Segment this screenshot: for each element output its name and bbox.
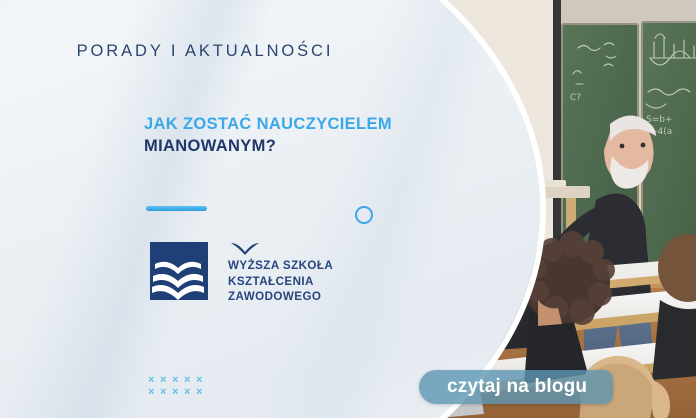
logo-line-3: ZAWODOWEGO bbox=[228, 289, 333, 305]
x-mark: × bbox=[160, 374, 172, 386]
x-mark: × bbox=[148, 386, 160, 398]
x-mark: × bbox=[160, 386, 172, 398]
x-mark: × bbox=[172, 386, 184, 398]
x-mark: × bbox=[196, 374, 208, 386]
circle-outline-decoration bbox=[355, 206, 373, 224]
x-mark: × bbox=[196, 386, 208, 398]
open-book-logo-icon bbox=[150, 242, 216, 304]
logo-line-1: WYŻSZA SZKOŁA bbox=[228, 258, 333, 274]
banner-content: PORADY I AKTUALNOŚCI JAK ZOSTAĆ NAUCZYCI… bbox=[0, 0, 430, 418]
read-on-blog-cta-button[interactable]: czytaj na blogu bbox=[419, 370, 613, 404]
x-mark: × bbox=[184, 386, 196, 398]
headline-line-1: JAK ZOSTAĆ NAUCZYCIELEM bbox=[144, 113, 392, 135]
headline-line-2: MIANOWANYM? bbox=[144, 135, 392, 157]
logo-text-block: WYŻSZA SZKOŁA KSZTAŁCENIA ZAWODOWEGO bbox=[228, 242, 333, 305]
university-logo[interactable]: WYŻSZA SZKOŁA KSZTAŁCENIA ZAWODOWEGO bbox=[150, 242, 333, 305]
x-mark: × bbox=[172, 374, 184, 386]
logo-line-2: KSZTAŁCENIA bbox=[228, 274, 333, 290]
divider-rule bbox=[146, 206, 207, 211]
x-dots-decoration: × × × × × × × × × × bbox=[148, 374, 208, 398]
x-mark: × bbox=[148, 374, 160, 386]
x-mark: × bbox=[184, 374, 196, 386]
eyebrow-label: PORADY I AKTUALNOŚCI bbox=[0, 42, 410, 61]
bird-swoosh-icon bbox=[230, 242, 260, 255]
promo-banner: C? S=b+ +4(a bbox=[0, 0, 696, 418]
headline: JAK ZOSTAĆ NAUCZYCIELEM MIANOWANYM? bbox=[144, 113, 392, 158]
